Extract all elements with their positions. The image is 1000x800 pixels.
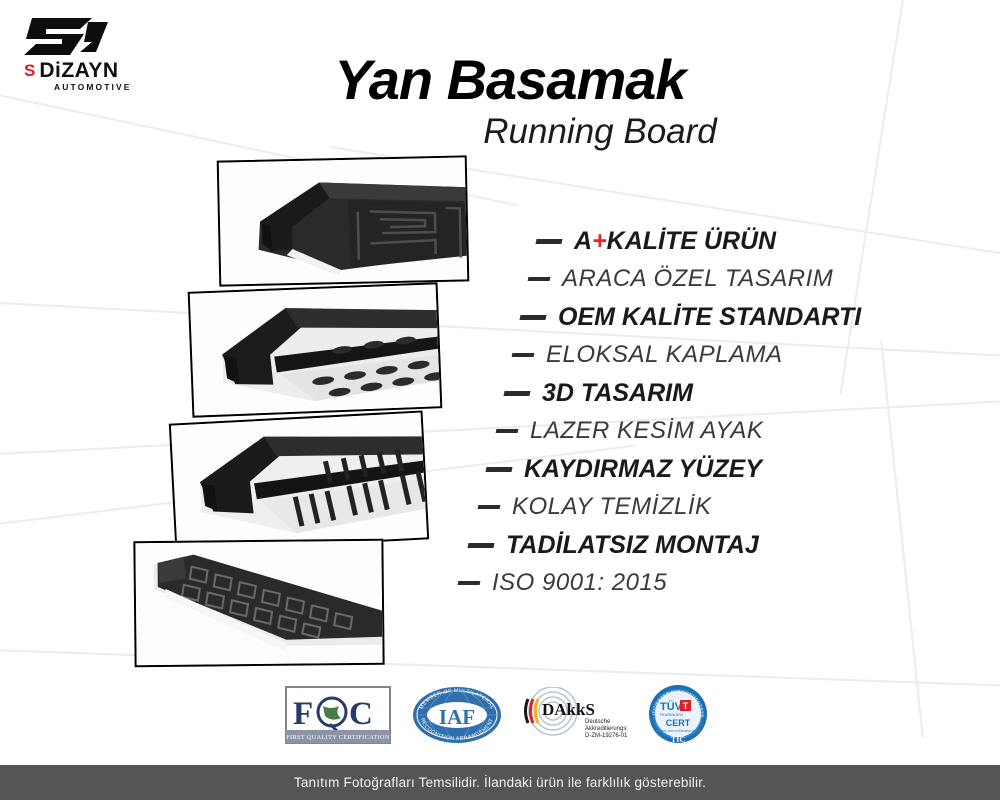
feature-item-1: A+KALİTE ÜRÜN [440, 222, 910, 260]
feature-label-9: TADİLATSIZ MONTAJ [506, 533, 759, 558]
feature-label-4: ELOKSAL KAPLAMA [546, 343, 783, 367]
feature-item-10: ISO 9001: 2015 [440, 564, 910, 602]
tuv-cert-icon: ZERTIFIZIERTES MANAGEMENTSYSTEM TÜV T TH… [647, 684, 709, 746]
bullet-dash-icon [503, 391, 530, 396]
bullet-dash-icon [519, 315, 546, 320]
svg-text:Deutsche: Deutsche [585, 719, 611, 725]
feature-item-6: LAZER KESİM AYAK [440, 412, 910, 450]
bullet-dash-icon [512, 353, 535, 357]
svg-text:DAkkS: DAkkS [542, 700, 595, 719]
bullet-dash-icon [478, 505, 501, 509]
logo-tagline: AUTOMOTIVE [54, 82, 172, 92]
cert-tuv: ZERTIFIZIERTES MANAGEMENTSYSTEM TÜV T TH… [647, 684, 709, 746]
cert-iaf: IAF MEMBER OF MULTILATERAL RECOGNITION A… [411, 684, 503, 746]
feature-list: A+KALİTE ÜRÜN ARACA ÖZEL TASARIM OEM KAL… [440, 222, 910, 602]
feature-item-7: KAYDIRMAZ YÜZEY [440, 450, 910, 488]
svg-text:TIC: TIC [671, 735, 685, 744]
cert-dakks: DAkkS Deutsche Akkreditierungsstelle D-Z… [523, 684, 627, 746]
product-image-1 [217, 155, 470, 286]
feature-item-8: KOLAY TEMİZLİK [440, 488, 910, 526]
svg-text:Akkreditierungsstelle: Akkreditierungsstelle [585, 726, 627, 732]
page-title: Yan Basamak [300, 52, 720, 108]
feature-item-9: TADİLATSIZ MONTAJ [440, 526, 910, 564]
bullet-dash-icon [467, 543, 494, 548]
bullet-dash-icon [485, 467, 512, 472]
bullet-dash-icon [458, 581, 481, 585]
running-board-oval-studs-icon [190, 284, 441, 415]
running-board-block-tread-icon [135, 541, 382, 666]
feature-label-5: 3D TASARIM [542, 381, 693, 406]
fqc-certification-icon: F C FIRST QUALITY CERTIFICATION [285, 686, 391, 744]
feature-item-3: OEM KALİTE STANDARTI [440, 298, 910, 336]
feature-item-4: ELOKSAL KAPLAMA [440, 336, 910, 374]
poster-canvas: S DiZAYN AUTOMOTIVE Yan Basamak Running … [0, 0, 1000, 800]
running-board-slot-pattern-icon [171, 413, 427, 551]
plus-accent: + [592, 227, 607, 255]
feature-item-5: 3D TASARIM [440, 374, 910, 412]
feature-label-2: ARACA ÖZEL TASARIM [562, 267, 833, 291]
cert-fqc: F C FIRST QUALITY CERTIFICATION [285, 684, 391, 746]
running-board-black-maze-tread-icon [219, 157, 468, 284]
bullet-dash-icon [535, 239, 562, 244]
product-image-4 [133, 539, 384, 668]
footer-disclaimer: Tanıtım Fotoğrafları Temsilidir. İlandak… [294, 775, 706, 790]
feature-item-2: ARACA ÖZEL TASARIM [440, 260, 910, 298]
feature-label-8: KOLAY TEMİZLİK [512, 495, 712, 519]
svg-text:THURINGEN: THURINGEN [659, 712, 683, 717]
svg-text:FIRST QUALITY CERTIFICATION: FIRST QUALITY CERTIFICATION [286, 734, 390, 741]
svg-text:IAF: IAF [439, 705, 475, 729]
svg-text:CERT: CERT [666, 718, 691, 728]
page-subtitle: Running Board [400, 114, 800, 149]
feature-label-7: KAYDIRMAZ YÜZEY [524, 457, 762, 482]
certification-badges: F C FIRST QUALITY CERTIFICATION IAF [285, 682, 715, 748]
feature-label-3: OEM KALİTE STANDARTI [558, 305, 861, 330]
dakks-certification-icon: DAkkS Deutsche Akkreditierungsstelle D-Z… [523, 687, 627, 743]
svg-text:F: F [293, 696, 313, 732]
bullet-dash-icon [528, 277, 551, 281]
logo-brand-name: DiZAYN [39, 60, 118, 81]
bullet-dash-icon [496, 429, 519, 433]
svg-text:T: T [683, 701, 689, 711]
iaf-certification-icon: IAF MEMBER OF MULTILATERAL RECOGNITION A… [411, 686, 503, 744]
feature-label-6: LAZER KESİM AYAK [530, 419, 763, 443]
feature-label-1: A+KALİTE ÜRÜN [574, 229, 776, 254]
brand-logo: S DiZAYN AUTOMOTIVE [22, 14, 172, 92]
svg-text:system and certification body: system and certification body [656, 729, 700, 733]
product-image-3 [169, 410, 429, 552]
feature-label-10: ISO 9001: 2015 [492, 571, 667, 595]
footer-bar: Tanıtım Fotoğrafları Temsilidir. İlandak… [0, 765, 1000, 800]
product-image-2 [188, 282, 443, 418]
s-dizayn-logo-icon [22, 14, 118, 58]
svg-text:D-ZM-19276-01-00: D-ZM-19276-01-00 [585, 733, 627, 739]
logo-s-letter: S [24, 62, 34, 79]
svg-text:C: C [349, 696, 373, 732]
